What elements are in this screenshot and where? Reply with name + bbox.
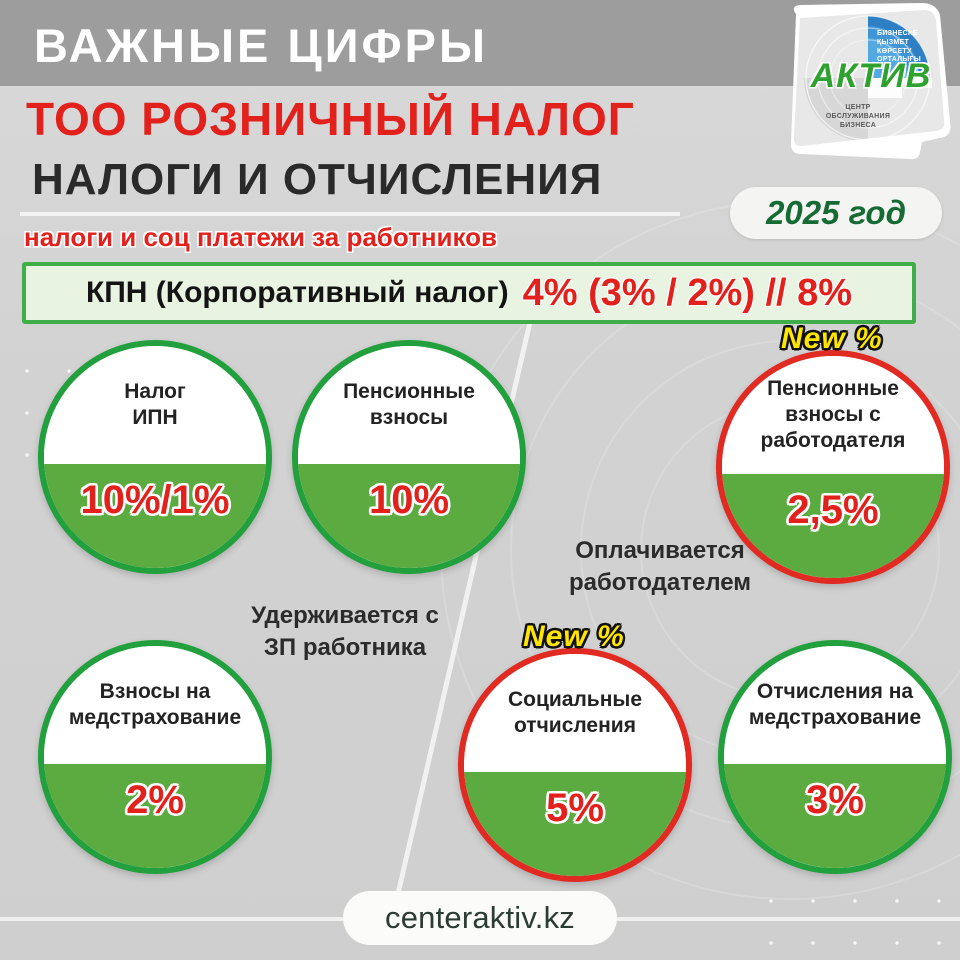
- stat-circle-value: 3%: [806, 778, 864, 823]
- page-title-dark: НАЛОГИ И ОТЧИСЛЕНИЯ: [32, 155, 602, 205]
- aktiv-logo: БИЗНЕСКЕҚЫЗМЕТКӨРСЕТУОРТАЛЫҒЫ АКТИВ ЦЕНТ…: [782, 2, 952, 160]
- stat-circle-label: Социальныеотчисления: [508, 687, 642, 738]
- note-paid-by-employer: Оплачиваетсяработодателем: [520, 535, 800, 600]
- page-subtitle: налоги и соц платежи за работников: [24, 222, 497, 253]
- stat-circle: Социальныеотчисления5%: [458, 648, 692, 882]
- year-badge: 2025 год: [730, 187, 942, 239]
- footer-site-pill[interactable]: centeraktiv.kz: [343, 891, 617, 945]
- year-badge-label: 2025 год: [766, 194, 906, 231]
- stat-circle-value: 5%: [546, 786, 604, 831]
- stat-circle: НалогИПН10%/1%: [38, 340, 272, 574]
- stat-circle-value-area: 3%: [724, 764, 946, 868]
- page-title-red: ТОО РОЗНИЧНЫЙ НАЛОГ: [26, 92, 635, 146]
- footer-site-label: centeraktiv.kz: [385, 900, 575, 935]
- stat-circle-value: 2%: [126, 778, 184, 823]
- stat-circle-label: НалогИПН: [124, 379, 185, 430]
- stat-circle-value-area: 2%: [44, 764, 266, 868]
- kpn-value: 4% (3% / 2%) // 8%: [523, 272, 852, 315]
- stat-circle-value-area: 10%: [298, 464, 520, 568]
- stat-circle-label: Пенсионныевзносы сработодателя: [761, 376, 906, 453]
- stat-circle-label: Взносы намедстрахование: [69, 679, 241, 730]
- stat-circle-value: 10%/1%: [81, 478, 230, 523]
- dot-pattern-right: [750, 880, 950, 950]
- stat-circle-value-area: 5%: [464, 772, 686, 876]
- stat-circle-label-area: Социальныеотчисления: [464, 654, 686, 772]
- stat-circle-label-area: Пенсионныевзносы сработодателя: [722, 356, 944, 474]
- stat-circle: Отчисления намедстрахование3%: [718, 640, 952, 874]
- stat-circle-label-area: Пенсионныевзносы: [298, 346, 520, 464]
- logo-wordmark: АКТИВ: [796, 57, 946, 96]
- stat-circle-label-area: Отчисления намедстрахование: [724, 646, 946, 764]
- note-withheld: Удерживается сЗП работника: [215, 600, 475, 665]
- kpn-label: КПН (Корпоративный налог): [86, 276, 509, 310]
- header-eyebrow: ВАЖНЫЕ ЦИФРЫ: [34, 18, 488, 73]
- stat-circle-value: 10%: [369, 478, 449, 523]
- new-percent-badge: New %: [523, 620, 625, 654]
- title-rule: [20, 212, 680, 216]
- stat-circle-label-area: НалогИПН: [44, 346, 266, 464]
- stat-circle: Пенсионныевзносы10%: [292, 340, 526, 574]
- stat-circle-label: Пенсионныевзносы: [343, 379, 475, 430]
- stat-circle-value: 2,5%: [787, 488, 878, 533]
- logo-tagline-ru: ЦЕНТРОБСЛУЖИВАНИЯБИЗНЕСА: [818, 104, 898, 130]
- kpn-banner: КПН (Корпоративный налог) 4% (3% / 2%) /…: [22, 262, 916, 324]
- stat-circle: Взносы намедстрахование2%: [38, 640, 272, 874]
- stat-circle-value-area: 10%/1%: [44, 464, 266, 568]
- infographic-poster: ВАЖНЫЕ ЦИФРЫ БИЗНЕСКЕҚЫЗМЕТКӨРСЕТУОРТАЛЫ…: [0, 0, 960, 960]
- stat-circle-label: Отчисления намедстрахование: [749, 679, 921, 730]
- new-percent-badge: New %: [781, 322, 883, 356]
